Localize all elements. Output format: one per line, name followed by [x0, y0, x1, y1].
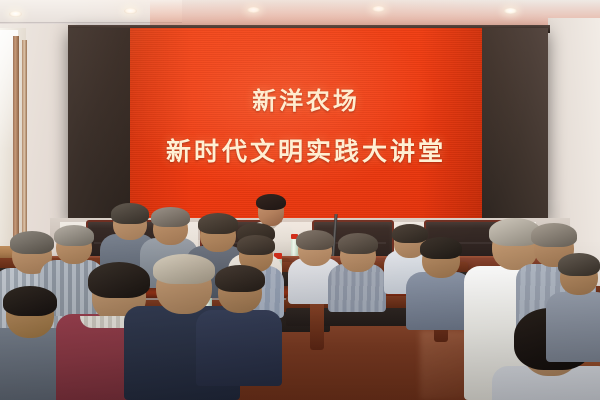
event-title-line-2: 新时代文明实践大讲堂 [166, 132, 446, 168]
downlight-icon [124, 8, 137, 14]
downlight-icon [9, 11, 22, 17]
person-hair [198, 213, 238, 234]
downlight-icon [372, 6, 385, 12]
person-hair [420, 237, 462, 259]
person-hair [237, 235, 275, 255]
person-hair [111, 203, 149, 224]
person-hair [88, 262, 150, 298]
person-torso [196, 310, 282, 386]
led-screen-title-block: 新洋农场 新时代文明实践大讲堂 [130, 28, 482, 220]
led-side-panel-left [68, 28, 130, 220]
person-hair [558, 253, 600, 276]
person-hair [10, 231, 54, 254]
downlight-icon [504, 8, 517, 14]
conference-hall-photo: 新洋农场 新时代文明实践大讲堂 [0, 0, 600, 400]
person-hair [296, 230, 334, 250]
person-hair [3, 286, 57, 316]
led-video-wall: 新洋农场 新时代文明实践大讲堂 [68, 28, 548, 220]
person-hair [338, 233, 378, 254]
led-side-panel-right [480, 28, 548, 220]
person-torso [546, 292, 600, 362]
person-hair [151, 207, 190, 227]
person-hair [153, 254, 215, 284]
window-frame [22, 40, 27, 246]
person-torso [406, 272, 472, 330]
person-hair [531, 223, 577, 247]
person-hair [392, 224, 428, 243]
person-hair [54, 225, 94, 246]
speaker-hair [256, 194, 286, 210]
led-screen-content: 新洋农场 新时代文明实践大讲堂 [130, 28, 482, 220]
downlight-icon [247, 7, 260, 13]
window-frame [13, 36, 19, 248]
person-hair [215, 265, 265, 292]
bench-arm [310, 300, 324, 350]
event-title-line-1: 新洋农场 [252, 81, 360, 116]
